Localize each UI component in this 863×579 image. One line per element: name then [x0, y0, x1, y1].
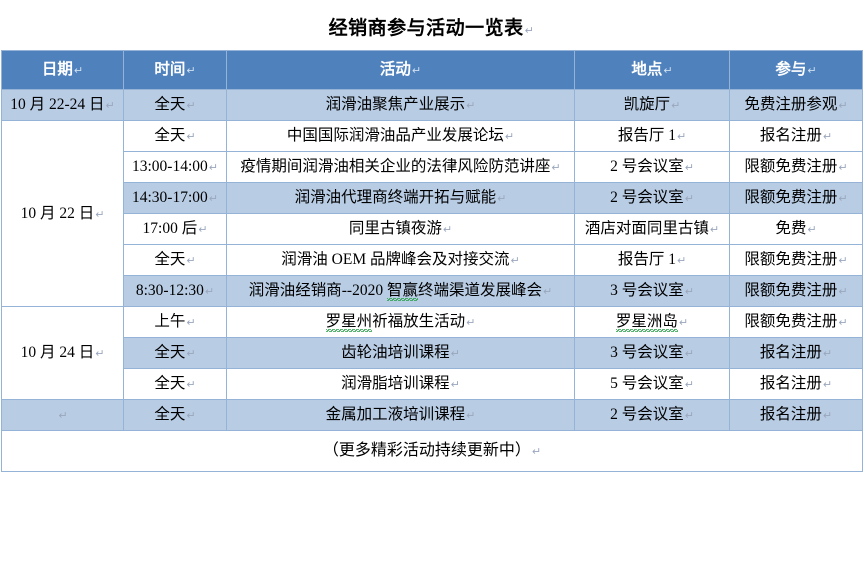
misspelled-text: 智赢 [387, 282, 418, 301]
paragraph-mark-icon: ↵ [205, 286, 214, 298]
cell-text: 疫情期间润滑油相关企业的法律风险防范讲座 [240, 158, 550, 175]
cell-location: 2 号会议室↵ [575, 400, 730, 431]
cell-participation: 免费↵ [730, 214, 863, 245]
table-row: 14:30-17:00↵润滑油代理商终端开拓与赋能↵2 号会议室↵限额免费注册↵ [2, 183, 863, 214]
paragraph-mark-icon: ↵ [186, 317, 195, 329]
paragraph-mark-icon: ↵ [74, 65, 83, 77]
cell-participation: 报名注册↵ [730, 121, 863, 152]
paragraph-mark-icon: ↵ [198, 224, 207, 236]
column-header-activity-label: 活动 [380, 61, 411, 78]
cell-text: 全天 [154, 375, 185, 392]
cell-time: 上午↵ [124, 307, 227, 338]
paragraph-mark-icon: ↵ [186, 100, 195, 112]
paragraph-mark-icon: ↵ [186, 131, 195, 143]
table-row: 10 月 22 日↵全天↵中国国际润滑油品产业发展论坛↵报告厅 1↵报名注册↵ [2, 121, 863, 152]
cell-activity: 中国国际润滑油品产业发展论坛↵ [227, 121, 575, 152]
paragraph-mark-icon: ↵ [106, 100, 115, 112]
cell-activity: 齿轮油培训课程↵ [227, 338, 575, 369]
table-row: 10 月 22-24 日↵全天↵润滑油聚焦产业展示↵凯旋厅↵免费注册参观↵ [2, 90, 863, 121]
table-row: 17:00 后↵同里古镇夜游↵酒店对面同里古镇↵免费↵ [2, 214, 863, 245]
paragraph-mark-icon: ↵ [95, 348, 104, 360]
cell-participation: 报名注册↵ [730, 400, 863, 431]
cell-text: 润滑油 OEM 品牌峰会及对接交流 [281, 251, 509, 268]
cell-text: 3 号会议室 [610, 344, 684, 361]
cell-text: 2 号会议室 [610, 406, 684, 423]
cell-text: 全天 [154, 127, 185, 144]
cell-participation: 报名注册↵ [730, 338, 863, 369]
paragraph-mark-icon: ↵ [466, 410, 475, 422]
cell-text: 报告厅 1 [618, 127, 676, 144]
paragraph-mark-icon: ↵ [838, 193, 847, 205]
cell-activity: 同里古镇夜游↵ [227, 214, 575, 245]
cell-location: 2 号会议室↵ [575, 152, 730, 183]
paragraph-mark-icon: ↵ [663, 65, 672, 77]
paragraph-mark-icon: ↵ [838, 317, 847, 329]
table-header: 日期↵ 时间↵ 活动↵ 地点↵ 参与↵ [2, 51, 863, 90]
paragraph-mark-icon: ↵ [186, 348, 195, 360]
document-page: 经销商参与活动一览表↵ 日期↵ 时间↵ 活动↵ 地点↵ 参与↵ 10 月 22-… [0, 0, 863, 579]
column-header-location-label: 地点 [631, 61, 662, 78]
paragraph-mark-icon: ↵ [209, 162, 218, 174]
paragraph-mark-icon: ↵ [186, 65, 195, 77]
cell-date: 10 月 22-24 日↵ [2, 90, 124, 121]
paragraph-mark-icon: ↵ [510, 255, 519, 267]
cell-text: 祈福放生活动 [372, 313, 465, 330]
cell-text: 10 月 22-24 日 [10, 96, 104, 113]
paragraph-mark-icon: ↵ [685, 348, 694, 360]
cell-text: 报名注册 [760, 127, 822, 144]
cell-text: 13:00-14:00 [132, 158, 208, 175]
paragraph-mark-icon: ↵ [823, 131, 832, 143]
paragraph-mark-icon: ↵ [807, 65, 816, 77]
cell-text: 限额免费注册 [744, 158, 837, 175]
column-header-time-label: 时间 [154, 61, 185, 78]
page-title-text: 经销商参与活动一览表 [329, 18, 524, 39]
paragraph-mark-icon: ↵ [671, 100, 680, 112]
cell-text: 全天 [154, 344, 185, 361]
cell-text: 8:30-12:30 [136, 282, 204, 299]
paragraph-mark-icon: ↵ [451, 379, 460, 391]
table-row: 8:30-12:30↵润滑油经销商--2020 智赢终端渠道发展峰会↵3 号会议… [2, 276, 863, 307]
footer-note: （更多精彩活动持续更新中）↵ [2, 431, 863, 472]
paragraph-mark-icon: ↵ [551, 162, 560, 174]
cell-location: 3 号会议室↵ [575, 338, 730, 369]
cell-text: 齿轮油培训课程 [341, 344, 450, 361]
cell-text: 凯旋厅 [624, 96, 671, 113]
cell-participation: 限额免费注册↵ [730, 245, 863, 276]
table-row: 全天↵齿轮油培训课程↵3 号会议室↵报名注册↵ [2, 338, 863, 369]
cell-text: 润滑脂培训课程 [341, 375, 450, 392]
paragraph-mark-icon: ↵ [209, 193, 218, 205]
cell-location: 酒店对面同里古镇↵ [575, 214, 730, 245]
cell-activity: 金属加工液培训课程↵ [227, 400, 575, 431]
paragraph-mark-icon: ↵ [838, 162, 847, 174]
cell-text: 润滑油聚焦产业展示 [326, 96, 466, 113]
cell-activity: 润滑脂培训课程↵ [227, 369, 575, 400]
cell-date: 10 月 22 日↵ [2, 121, 124, 307]
paragraph-mark-icon: ↵ [186, 379, 195, 391]
cell-text: 10 月 22 日 [21, 205, 95, 222]
cell-date: 10 月 24 日↵ [2, 307, 124, 400]
paragraph-mark-icon: ↵ [505, 131, 514, 143]
cell-text: 17:00 后 [143, 220, 198, 237]
cell-text: 14:30-17:00 [132, 189, 208, 206]
cell-participation: 限额免费注册↵ [730, 307, 863, 338]
cell-text: 2 号会议室 [610, 158, 684, 175]
cell-text: 全天 [154, 406, 185, 423]
cell-text: 报告厅 1 [618, 251, 676, 268]
paragraph-mark-icon: ↵ [412, 65, 421, 77]
cell-text: 限额免费注册 [744, 313, 837, 330]
cell-time: 14:30-17:00↵ [124, 183, 227, 214]
cell-text: 报名注册 [760, 344, 822, 361]
paragraph-mark-icon: ↵ [679, 317, 688, 329]
cell-location: 报告厅 1↵ [575, 121, 730, 152]
cell-time: 全天↵ [124, 338, 227, 369]
paragraph-mark-icon: ↵ [466, 100, 475, 112]
paragraph-mark-icon: ↵ [838, 286, 847, 298]
cell-participation: 报名注册↵ [730, 369, 863, 400]
paragraph-mark-icon: ↵ [58, 410, 67, 422]
cell-text: 免费注册参观 [744, 96, 837, 113]
table-header-row: 日期↵ 时间↵ 活动↵ 地点↵ 参与↵ [2, 51, 863, 90]
cell-participation: 限额免费注册↵ [730, 152, 863, 183]
cell-text: 全天 [154, 251, 185, 268]
paragraph-mark-icon: ↵ [677, 131, 686, 143]
column-header-time: 时间↵ [124, 51, 227, 90]
cell-activity: 润滑油聚焦产业展示↵ [227, 90, 575, 121]
paragraph-mark-icon: ↵ [685, 286, 694, 298]
paragraph-mark-icon: ↵ [95, 209, 104, 221]
paragraph-mark-icon: ↵ [685, 193, 694, 205]
misspelled-text: 罗星洲岛 [616, 313, 678, 332]
paragraph-mark-icon: ↵ [532, 446, 541, 458]
cell-time: 13:00-14:00↵ [124, 152, 227, 183]
paragraph-mark-icon: ↵ [823, 410, 832, 422]
paragraph-mark-icon: ↵ [186, 255, 195, 267]
cell-text: 10 月 24 日 [21, 344, 95, 361]
paragraph-mark-icon: ↵ [466, 317, 475, 329]
paragraph-mark-icon: ↵ [823, 348, 832, 360]
cell-text: 同里古镇夜游 [349, 220, 442, 237]
paragraph-mark-icon: ↵ [838, 100, 847, 112]
cell-text: 报名注册 [760, 375, 822, 392]
schedule-table: 日期↵ 时间↵ 活动↵ 地点↵ 参与↵ 10 月 22-24 日↵全天↵润滑油聚… [1, 50, 863, 472]
table-row: 10 月 24 日↵上午↵罗星州祈福放生活动↵罗星洲岛↵限额免费注册↵ [2, 307, 863, 338]
misspelled-text: 罗星州 [326, 313, 373, 332]
cell-text: 限额免费注册 [744, 282, 837, 299]
cell-text: 免费 [775, 220, 806, 237]
paragraph-mark-icon: ↵ [807, 224, 816, 236]
cell-time: 全天↵ [124, 90, 227, 121]
table-footer-row: （更多精彩活动持续更新中）↵ [2, 431, 863, 472]
cell-text: 限额免费注册 [744, 251, 837, 268]
paragraph-mark-icon: ↵ [543, 286, 552, 298]
cell-activity: 润滑油代理商终端开拓与赋能↵ [227, 183, 575, 214]
paragraph-mark-icon: ↵ [451, 348, 460, 360]
cell-time: 全天↵ [124, 245, 227, 276]
cell-participation: 限额免费注册↵ [730, 183, 863, 214]
table-row: 全天↵润滑脂培训课程↵5 号会议室↵报名注册↵ [2, 369, 863, 400]
paragraph-mark-icon: ↵ [186, 410, 195, 422]
table-body: 10 月 22-24 日↵全天↵润滑油聚焦产业展示↵凯旋厅↵免费注册参观↵10 … [2, 90, 863, 431]
table-row: 全天↵润滑油 OEM 品牌峰会及对接交流↵报告厅 1↵限额免费注册↵ [2, 245, 863, 276]
cell-time: 全天↵ [124, 400, 227, 431]
cell-activity: 润滑油经销商--2020 智赢终端渠道发展峰会↵ [227, 276, 575, 307]
cell-text: 2 号会议室 [610, 189, 684, 206]
cell-location: 报告厅 1↵ [575, 245, 730, 276]
table-footer: （更多精彩活动持续更新中）↵ [2, 431, 863, 472]
cell-text: 限额免费注册 [744, 189, 837, 206]
cell-text: 3 号会议室 [610, 282, 684, 299]
cell-time: 全天↵ [124, 121, 227, 152]
column-header-date: 日期↵ [2, 51, 124, 90]
footer-note-text: （更多精彩活动持续更新中） [323, 442, 531, 459]
paragraph-mark-icon: ↵ [710, 224, 719, 236]
paragraph-mark-icon: ↵ [838, 255, 847, 267]
cell-location: 2 号会议室↵ [575, 183, 730, 214]
column-header-participation: 参与↵ [730, 51, 863, 90]
cell-location: 罗星洲岛↵ [575, 307, 730, 338]
paragraph-mark-icon: ↵ [685, 379, 694, 391]
cell-text: 中国国际润滑油品产业发展论坛 [287, 127, 504, 144]
cell-time: 17:00 后↵ [124, 214, 227, 245]
paragraph-mark-icon: ↵ [443, 224, 452, 236]
cell-time: 8:30-12:30↵ [124, 276, 227, 307]
cell-time: 全天↵ [124, 369, 227, 400]
cell-text: 上午 [154, 313, 185, 330]
cell-activity: 润滑油 OEM 品牌峰会及对接交流↵ [227, 245, 575, 276]
cell-text: 报名注册 [760, 406, 822, 423]
cell-participation: 免费注册参观↵ [730, 90, 863, 121]
cell-text: 5 号会议室 [610, 375, 684, 392]
cell-text: 润滑油经销商--2020 [249, 282, 387, 299]
page-title: 经销商参与活动一览表↵ [0, 0, 863, 50]
table-row: 13:00-14:00↵疫情期间润滑油相关企业的法律风险防范讲座↵2 号会议室↵… [2, 152, 863, 183]
cell-text: 润滑油代理商终端开拓与赋能 [295, 189, 497, 206]
paragraph-mark-icon: ↵ [685, 410, 694, 422]
paragraph-mark-icon: ↵ [823, 379, 832, 391]
cell-activity: 疫情期间润滑油相关企业的法律风险防范讲座↵ [227, 152, 575, 183]
table-row: ↵全天↵金属加工液培训课程↵2 号会议室↵报名注册↵ [2, 400, 863, 431]
column-header-location: 地点↵ [575, 51, 730, 90]
paragraph-mark-icon: ↵ [497, 193, 506, 205]
cell-date: ↵ [2, 400, 124, 431]
cell-location: 凯旋厅↵ [575, 90, 730, 121]
cell-text: 酒店对面同里古镇 [585, 220, 709, 237]
cell-text: 金属加工液培训课程 [326, 406, 466, 423]
cell-text: 全天 [154, 96, 185, 113]
cell-activity: 罗星州祈福放生活动↵ [227, 307, 575, 338]
column-header-date-label: 日期 [42, 61, 73, 78]
cell-participation: 限额免费注册↵ [730, 276, 863, 307]
paragraph-mark-icon: ↵ [525, 25, 535, 37]
cell-location: 3 号会议室↵ [575, 276, 730, 307]
paragraph-mark-icon: ↵ [677, 255, 686, 267]
paragraph-mark-icon: ↵ [685, 162, 694, 174]
column-header-participation-label: 参与 [775, 61, 806, 78]
cell-location: 5 号会议室↵ [575, 369, 730, 400]
column-header-activity: 活动↵ [227, 51, 575, 90]
cell-text: 终端渠道发展峰会 [418, 282, 542, 299]
